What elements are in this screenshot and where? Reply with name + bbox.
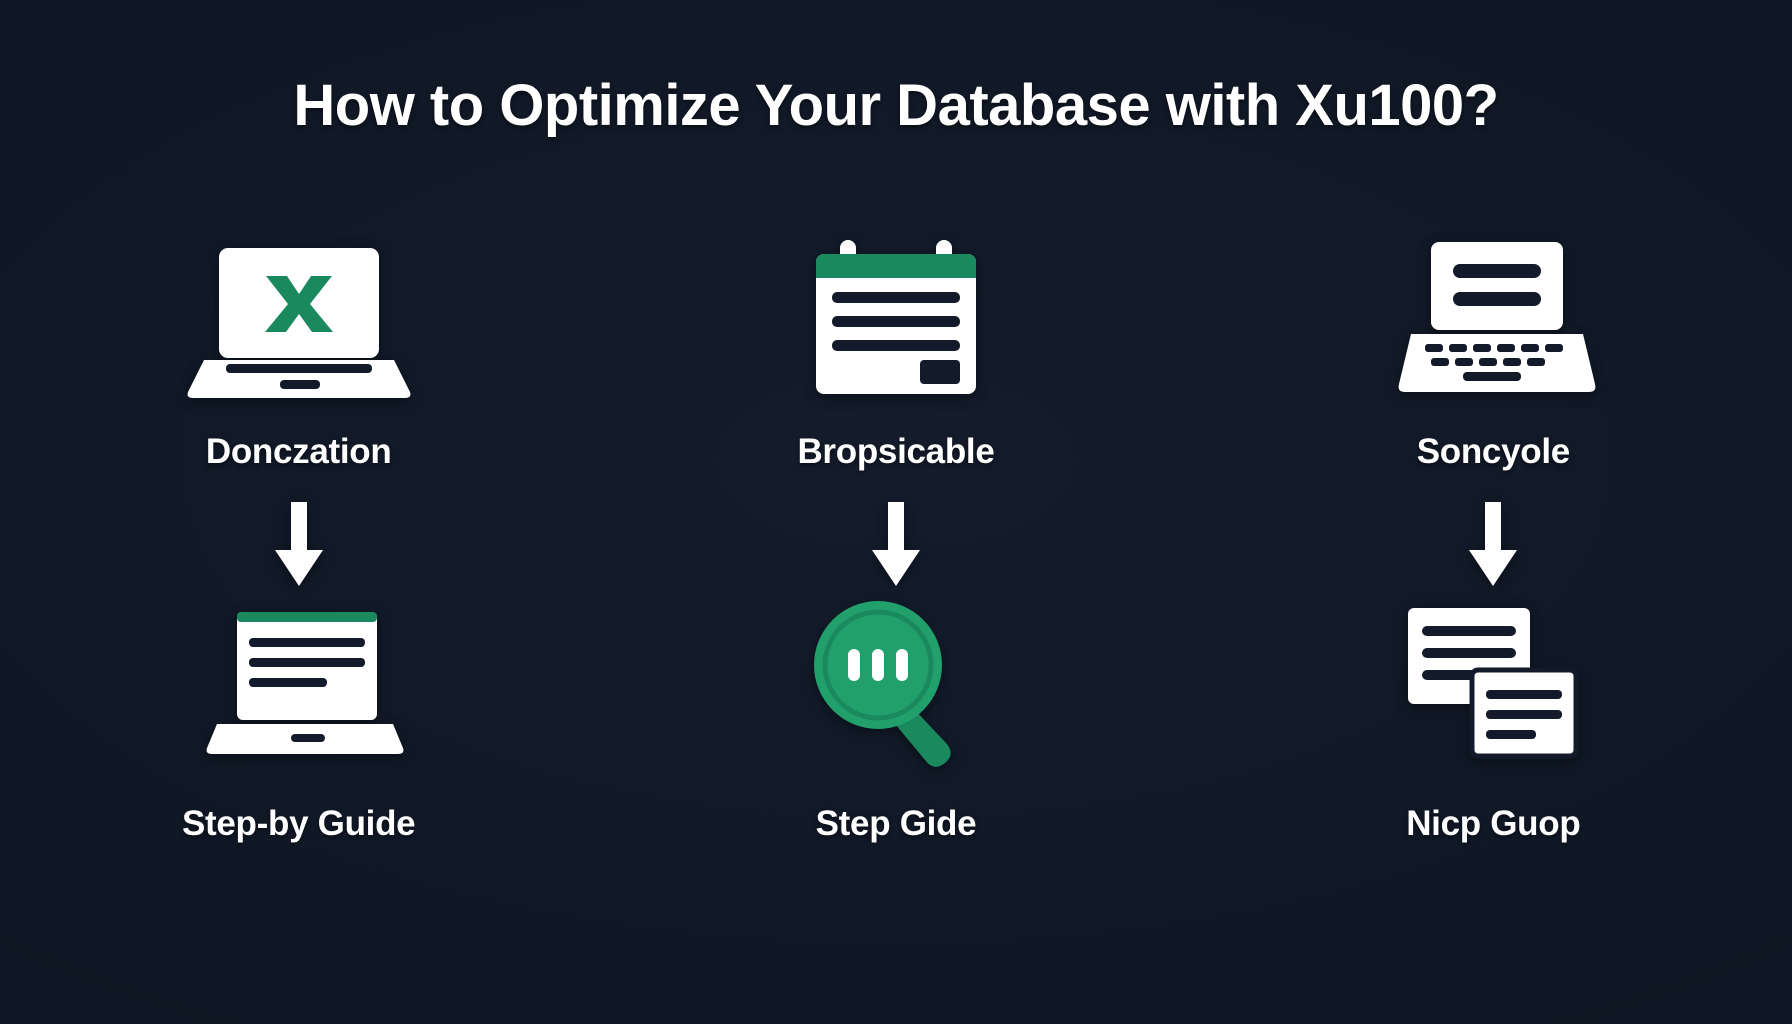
flow-column-2: Bropsicable Step Gide: [686, 230, 1106, 844]
laptop-keyboard-icon: [1383, 230, 1603, 410]
flow-bottom-label-2: Step Gide: [816, 804, 977, 844]
flow-bottom-label-1: Step-by Guide: [182, 804, 415, 844]
calendar-document-icon: [796, 230, 996, 410]
flow-node-label-2: Bropsicable: [797, 432, 994, 472]
laptop-with-green-x-icon: [184, 230, 414, 410]
flow-node-label-3: Soncyole: [1417, 432, 1570, 472]
flow-node-label-1: Donczation: [206, 432, 392, 472]
flow-column-1: Donczation Step-by Guide: [89, 230, 509, 844]
page-title: How to Optimize Your Database with Xu100…: [0, 72, 1792, 139]
flow-columns: Donczation Step-by Guide: [0, 230, 1792, 844]
stacked-documents-icon: [1398, 594, 1588, 774]
laptop-document-window-icon: [189, 594, 409, 774]
magnifying-glass-icon: [806, 594, 986, 774]
infographic-canvas: How to Optimize Your Database with Xu100…: [0, 0, 1792, 1024]
flow-bottom-label-3: Nicp Guop: [1406, 804, 1580, 844]
arrow-down-icon-1: [271, 498, 327, 594]
flow-column-3: Soncyole Nicp Guop: [1283, 230, 1703, 844]
arrow-down-icon-2: [868, 498, 924, 594]
arrow-down-icon-3: [1465, 498, 1521, 594]
